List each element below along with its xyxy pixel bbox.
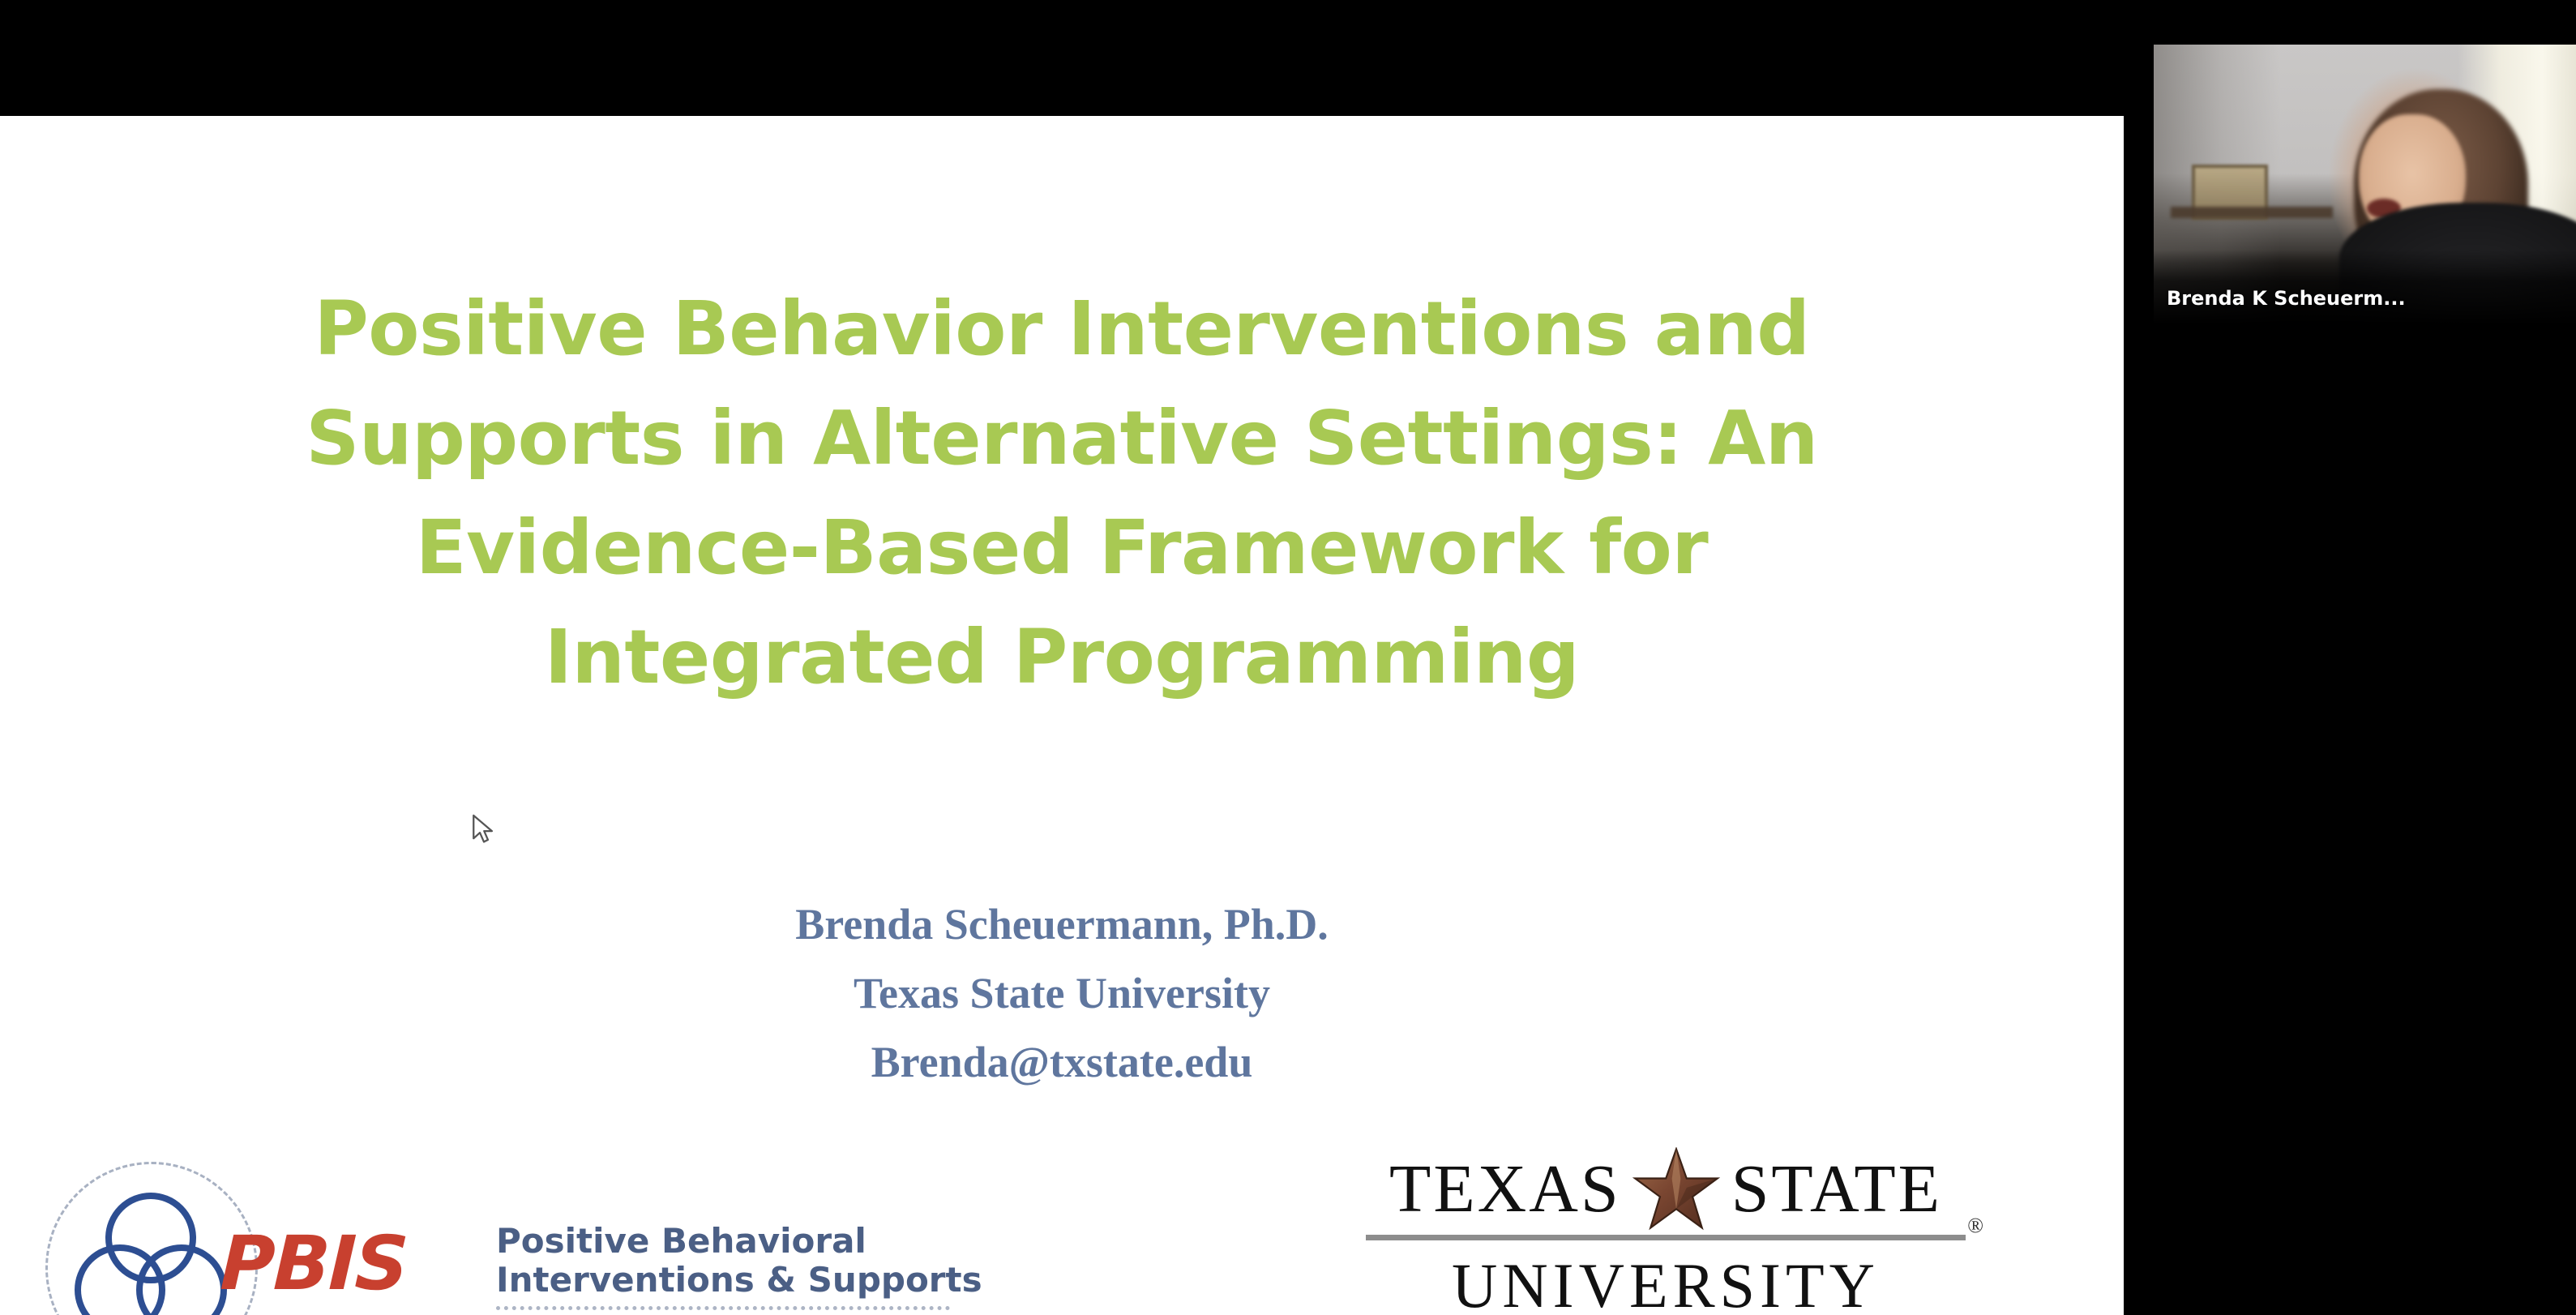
pbis-dotted-divider	[496, 1306, 950, 1315]
author-email: Brenda@txstate.edu	[0, 1028, 2124, 1097]
texas-state-logo: TEXAS	[1346, 1146, 1986, 1315]
texas-state-word-left: TEXAS	[1389, 1146, 1621, 1233]
texas-state-university-word: UNIVERSITY	[1346, 1250, 1986, 1315]
pbis-expansion-line-1: Positive Behavioral	[496, 1222, 950, 1261]
texas-state-word-right: STATE	[1731, 1146, 1942, 1233]
texas-state-wordmark-row: TEXAS	[1346, 1146, 1986, 1233]
participant-video-tile[interactable]: Brenda K Scheuerm...	[2154, 45, 2576, 324]
texas-state-rule: ®	[1366, 1235, 1966, 1240]
slide-title-line-1: Positive Behavior Interventions and	[243, 274, 1881, 383]
pbis-logo: PBIS Positive Behavioral Interventions &…	[42, 1155, 950, 1315]
registered-trademark-mark: ®	[1967, 1215, 1983, 1236]
participant-name-label: Brenda K Scheuerm...	[2167, 287, 2406, 310]
slide-title-line-4: Integrated Programming	[243, 602, 1881, 712]
pbis-acronym: PBIS	[219, 1227, 408, 1301]
slide-title: Positive Behavior Interventions and Supp…	[0, 274, 2124, 712]
pbis-expansion-line-2: Interventions & Supports	[496, 1261, 950, 1300]
slide-title-line-2: Supports in Alternative Settings: An	[243, 383, 1881, 493]
shared-slide: Positive Behavior Interventions and Supp…	[0, 116, 2124, 1315]
author-block: Brenda Scheuermann, Ph.D. Texas State Un…	[0, 890, 2124, 1097]
slide-title-line-3: Evidence-Based Framework for	[243, 493, 1881, 602]
author-affiliation: Texas State University	[0, 959, 2124, 1028]
background-shelf	[2171, 207, 2333, 218]
pbis-expansion-text: Positive Behavioral Interventions & Supp…	[496, 1222, 950, 1300]
lone-star-icon	[1632, 1147, 1720, 1231]
mouse-cursor-icon	[470, 813, 498, 844]
author-name: Brenda Scheuermann, Ph.D.	[0, 890, 2124, 959]
screen-share-viewport: Positive Behavior Interventions and Supp…	[0, 0, 2576, 1315]
